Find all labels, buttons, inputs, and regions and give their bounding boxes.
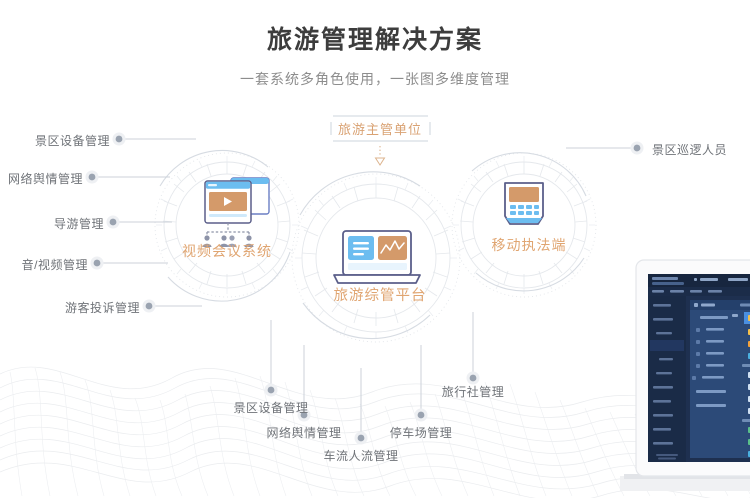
handheld-device-icon [505, 183, 543, 224]
badge-label: 旅游主管单位 [338, 119, 422, 138]
leaf-label-left-2: 导游管理 [0, 215, 104, 232]
leaf-label-bottom-4: 旅行社管理 [413, 383, 533, 400]
connectors-right [566, 142, 644, 155]
arc-accent-center [300, 172, 420, 215]
mock-sidebar [648, 296, 686, 462]
arc-accent-right-2 [476, 258, 584, 291]
ring-solid-outer [461, 162, 587, 288]
ring-ticks [156, 156, 298, 294]
node-label-mobile-enforcement: 移动执法端 [469, 235, 589, 255]
badge-arrow [376, 146, 385, 165]
leaf-label-right-0: 景区巡逻人员 [652, 141, 748, 158]
leaf-label-left-0: 景区设备管理 [0, 132, 110, 149]
node-circle-video-conference [155, 150, 299, 301]
video-window-icon [203, 178, 270, 247]
leaf-label-bottom-1: 网络舆情管理 [244, 424, 364, 441]
page-subtitle: 一套系统多角色使用，一张图多维度管理 [0, 57, 750, 89]
mock-content-panel [690, 300, 750, 458]
leaf-label-bottom-0: 景区设备管理 [211, 399, 331, 416]
solution-diagram-page: 旅游管理解决方案 一套系统多角色使用，一张图多维度管理 [0, 0, 750, 498]
leaf-label-bottom-3: 停车场管理 [361, 424, 481, 441]
leaf-label-bottom-2: 车流人流管理 [301, 447, 421, 464]
node-label-video-conference: 视频会议系统 [162, 241, 292, 261]
leaf-label-left-4: 游客投诉管理 [0, 299, 140, 316]
laptop-mockup [620, 248, 750, 498]
node-label-tourism-platform: 旅游综管平台 [310, 284, 450, 305]
badge-tourism-authority[interactable]: 旅游主管单位 [330, 115, 430, 141]
laptop-dashboard-icon [334, 231, 420, 283]
page-title: 旅游管理解决方案 [0, 0, 750, 57]
leaf-label-left-3: 音/视频管理 [0, 256, 88, 273]
page-header: 旅游管理解决方案 一套系统多角色使用，一张图多维度管理 [0, 0, 750, 89]
leaf-label-left-1: 网络舆情管理 [0, 170, 83, 187]
